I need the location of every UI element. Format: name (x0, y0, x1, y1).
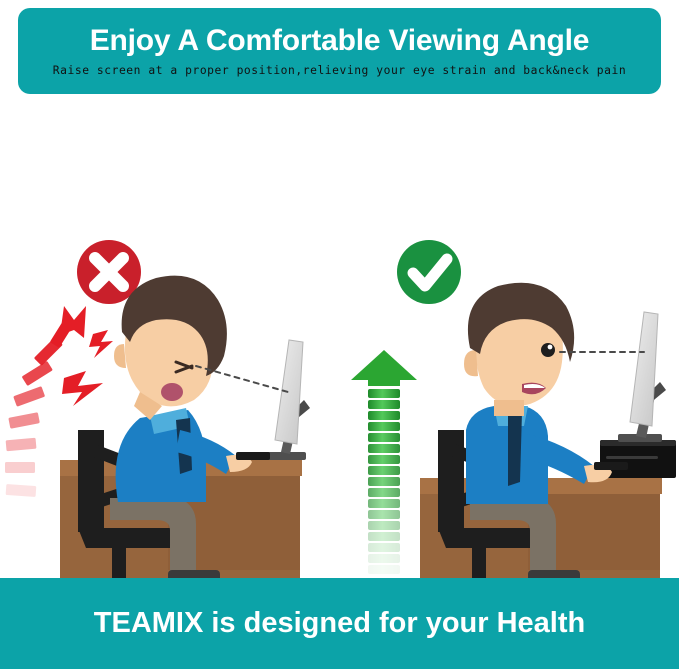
keyboard-left (236, 452, 270, 460)
monitor-right (618, 312, 666, 442)
monitor-left (262, 340, 310, 460)
footer-banner: TEAMIX is designed for your Health (0, 578, 679, 669)
page-title: Enjoy A Comfortable Viewing Angle (90, 25, 590, 57)
check-badge-icon (397, 240, 461, 304)
footer-tagline: TEAMIX is designed for your Health (94, 607, 585, 640)
incorrect-posture-scene (5, 240, 310, 578)
header-subtitle: Raise screen at a proper position,reliev… (53, 64, 626, 77)
keyboard-right (594, 462, 628, 470)
illustration-area (0, 100, 679, 578)
correct-posture-scene (351, 240, 676, 578)
header-banner: Enjoy A Comfortable Viewing Angle Raise … (18, 8, 661, 94)
head-right (464, 283, 574, 416)
head-left (114, 276, 227, 420)
green-up-arrow-icon (351, 350, 417, 574)
